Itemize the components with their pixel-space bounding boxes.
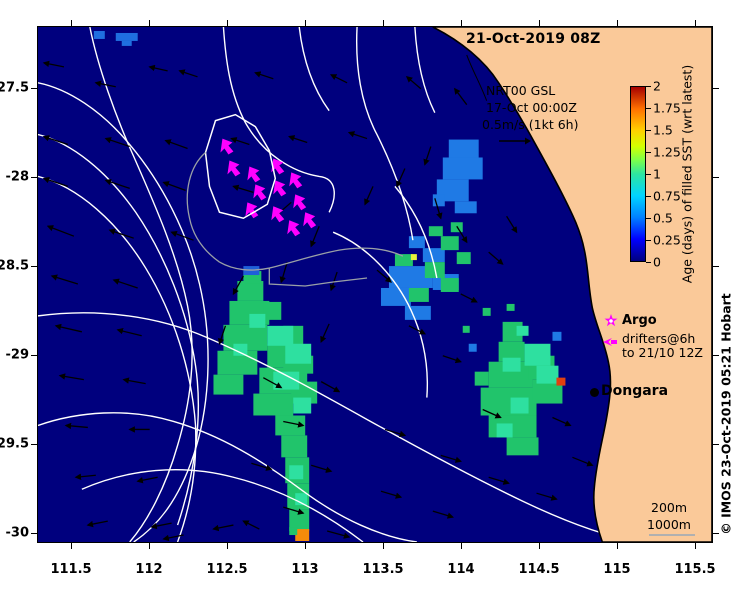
y-tick-right bbox=[713, 88, 719, 89]
x-tick-top bbox=[383, 20, 384, 26]
x-tick-top bbox=[461, 20, 462, 26]
y-tick bbox=[31, 444, 37, 445]
colorbar-tick bbox=[646, 174, 651, 175]
annotation-reference-time: 17-Oct 00:00Z bbox=[486, 100, 577, 115]
colorbar-tick-label: 1.5 bbox=[653, 123, 673, 138]
region-outline-layer bbox=[38, 27, 712, 542]
depth-label-shallow: 200m bbox=[651, 500, 687, 515]
copyright-notice: © IMOS 23-Oct-2019 05:21 Hobart bbox=[719, 293, 734, 535]
y-tick-label: -29.5 bbox=[0, 437, 29, 452]
page-title: 21-Oct-2019 08Z bbox=[466, 31, 600, 47]
annotation-vector-scale: 0.5m/s (1kt 6h) bbox=[482, 117, 578, 132]
x-tick-label: 114.5 bbox=[518, 562, 559, 577]
x-tick-label: 111.5 bbox=[50, 562, 91, 577]
colorbar-tick-label: 1.25 bbox=[653, 145, 681, 160]
colorbar-tick bbox=[646, 86, 651, 87]
x-tick-label: 113.5 bbox=[362, 562, 403, 577]
colorbar-tick bbox=[646, 240, 651, 241]
colorbar-tick-label: 0.5 bbox=[653, 211, 673, 226]
y-tick bbox=[31, 355, 37, 356]
x-tick-label: 112.5 bbox=[206, 562, 247, 577]
x-tick-top bbox=[539, 20, 540, 26]
imos-sst-age-map-figure: 21-Oct-2019 08Z NRT00 GSL 17-Oct 00:00Z … bbox=[0, 0, 739, 592]
depth-label-deep: 1000m bbox=[647, 517, 691, 532]
x-tick bbox=[461, 543, 462, 549]
legend-label-argo: Argo bbox=[622, 313, 657, 328]
x-tick bbox=[383, 543, 384, 549]
x-tick-top bbox=[71, 20, 72, 26]
y-tick-label: -28 bbox=[6, 170, 30, 185]
colorbar-tick bbox=[646, 152, 651, 153]
x-tick bbox=[227, 543, 228, 549]
y-tick-label: -27.5 bbox=[0, 81, 29, 96]
y-tick-label: -29 bbox=[6, 348, 30, 363]
x-tick-top bbox=[149, 20, 150, 26]
x-tick-label: 114 bbox=[447, 562, 474, 577]
colorbar bbox=[630, 86, 646, 262]
x-tick-label: 112 bbox=[135, 562, 162, 577]
colorbar-tick bbox=[646, 262, 651, 263]
x-tick bbox=[617, 543, 618, 549]
x-tick bbox=[71, 543, 72, 549]
y-tick bbox=[31, 533, 37, 534]
x-tick-top bbox=[617, 20, 618, 26]
x-tick-label: 113 bbox=[291, 562, 318, 577]
colorbar-tick-label: 0 bbox=[653, 255, 661, 270]
colorbar-tick-label: 2 bbox=[653, 79, 661, 94]
colorbar-tick-label: 0.25 bbox=[653, 233, 681, 248]
x-tick bbox=[149, 543, 150, 549]
map-plot-area[interactable] bbox=[37, 26, 713, 543]
colorbar-tick-label: 0.75 bbox=[653, 189, 681, 204]
y-tick-right bbox=[713, 266, 719, 267]
x-tick bbox=[305, 543, 306, 549]
x-tick bbox=[539, 543, 540, 549]
colorbar-tick-label: 1.75 bbox=[653, 101, 681, 116]
y-tick bbox=[31, 88, 37, 89]
star-marker-icon bbox=[604, 314, 618, 328]
right-arrow-icon bbox=[498, 136, 532, 146]
colorbar-title: Age (days) of filled SST (wrt latest) bbox=[680, 65, 695, 283]
x-tick-top bbox=[305, 20, 306, 26]
annotation-product: NRT00 GSL bbox=[486, 83, 555, 98]
y-tick-right bbox=[713, 177, 719, 178]
depth-scale-rule bbox=[649, 534, 695, 536]
colorbar-tick bbox=[646, 108, 651, 109]
x-tick bbox=[695, 543, 696, 549]
y-tick bbox=[31, 177, 37, 178]
x-tick-top bbox=[227, 20, 228, 26]
arrow-marker-icon bbox=[602, 336, 618, 348]
colorbar-tick bbox=[646, 218, 651, 219]
place-label-dongara: Dongara bbox=[601, 383, 668, 399]
x-tick-label: 115 bbox=[603, 562, 630, 577]
x-tick-label: 115.5 bbox=[674, 562, 715, 577]
y-tick-label: -30 bbox=[6, 526, 30, 541]
colorbar-tick-label: 1 bbox=[653, 167, 661, 182]
colorbar-tick bbox=[646, 130, 651, 131]
dongara-location-dot bbox=[590, 388, 599, 397]
y-tick-label: -28.5 bbox=[0, 259, 29, 274]
x-tick-top bbox=[695, 20, 696, 26]
legend-label-drifters-line1: drifters@6h bbox=[622, 331, 695, 346]
legend-label-drifters-line2: to 21/10 12Z bbox=[622, 345, 703, 360]
colorbar-tick bbox=[646, 196, 651, 197]
y-tick bbox=[31, 266, 37, 267]
